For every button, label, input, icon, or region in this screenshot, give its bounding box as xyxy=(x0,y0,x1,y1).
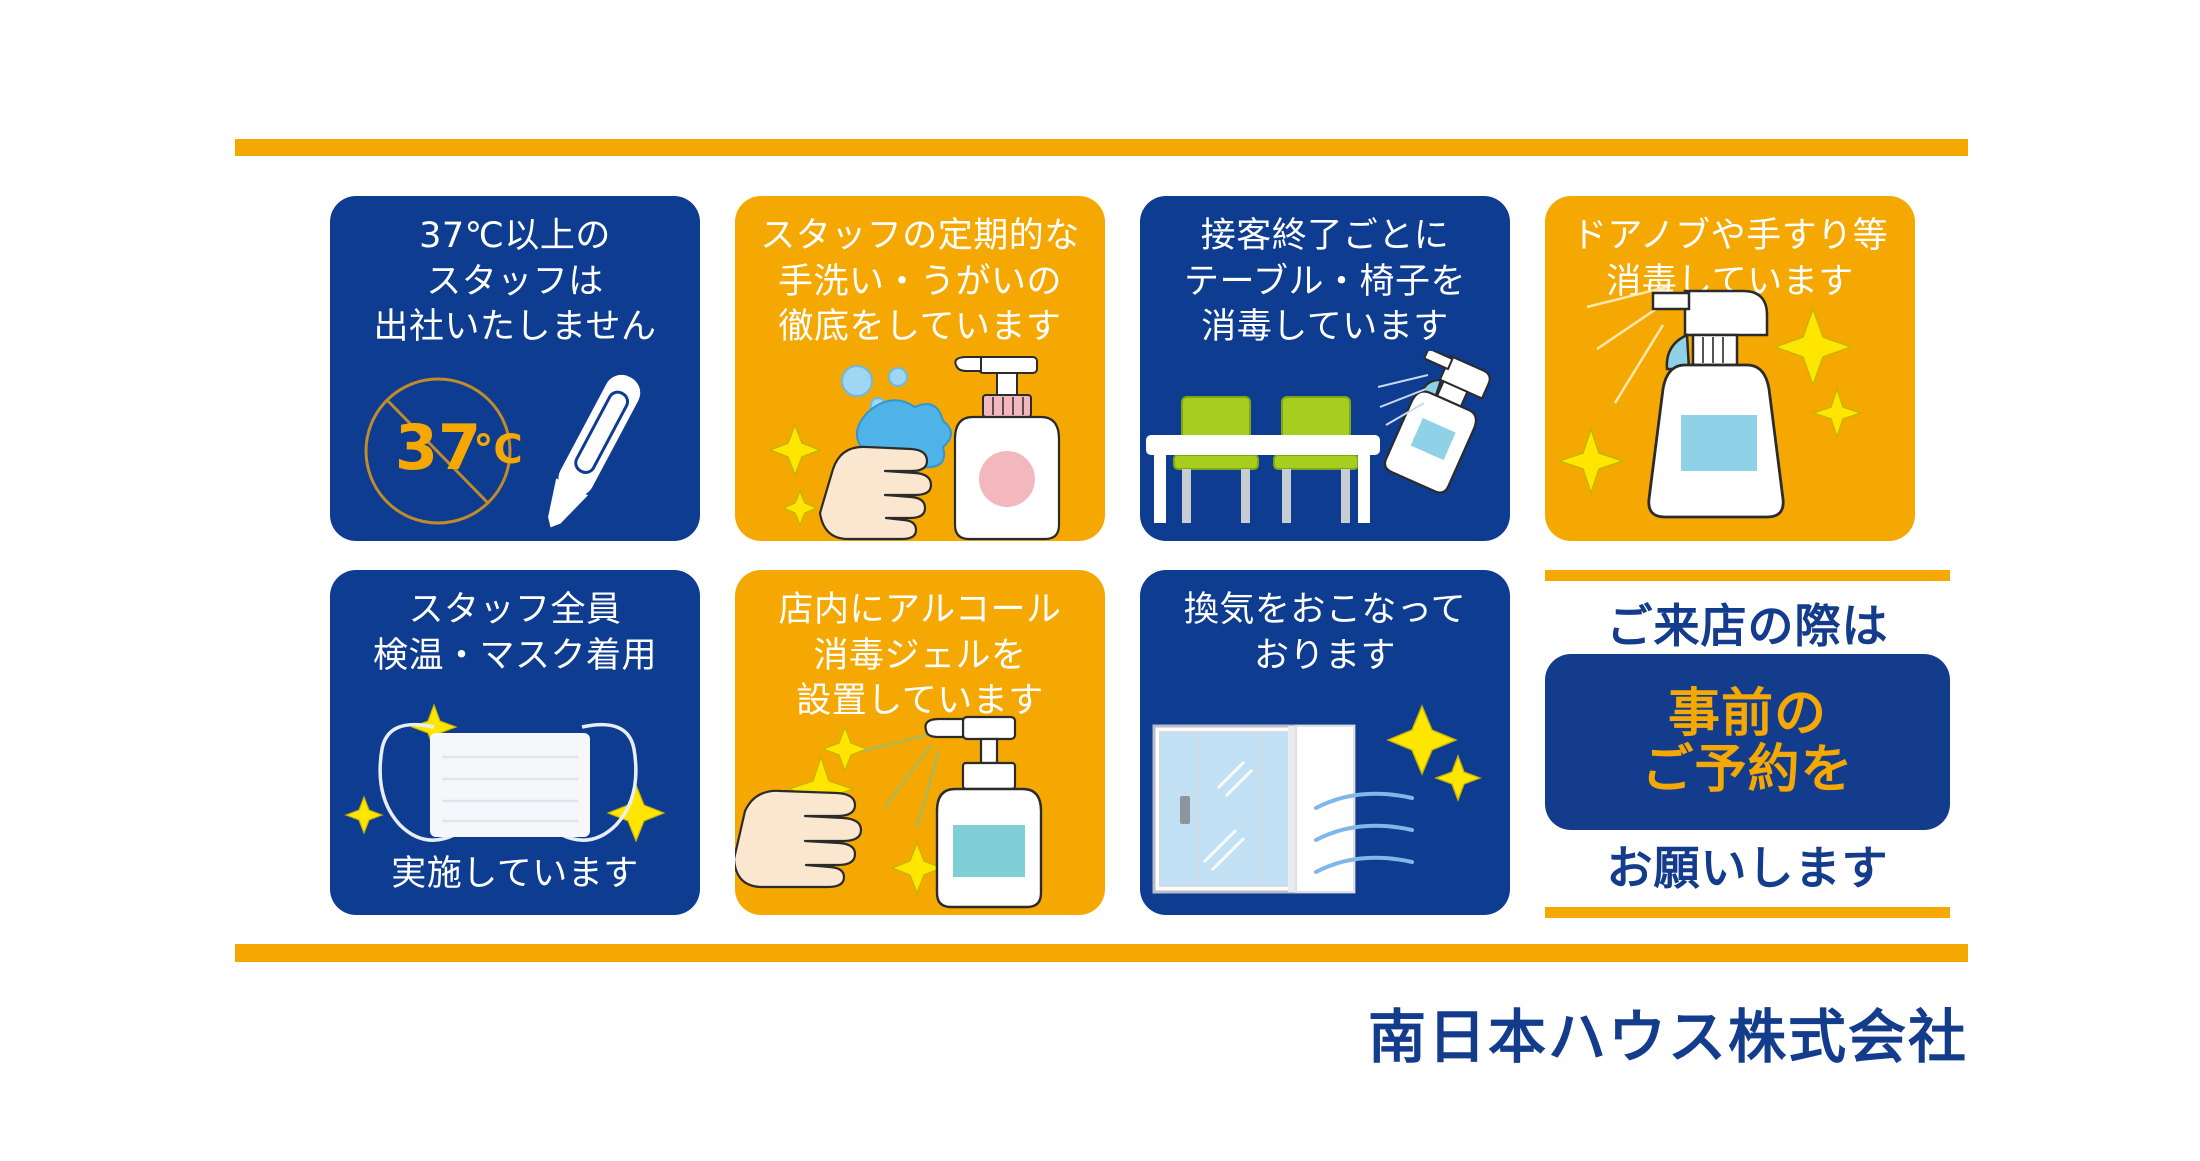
spray-lines-icon xyxy=(863,733,939,827)
card-doorknob-handrail-art xyxy=(1545,281,1915,541)
company-name: 南日本ハウス株式会社 xyxy=(0,990,1968,1074)
reservation-divider-bottom xyxy=(1545,907,1950,918)
card-temperature-mask-art xyxy=(330,703,700,863)
card-alcohol-gel-text: 店内にアルコール 消毒ジェルを 設置しています xyxy=(735,588,1105,725)
reservation-highlight-line-2: ご予約を xyxy=(1641,742,1853,798)
card-fever-staff: 37℃以上の スタッフは 出社いたしません 37 °C xyxy=(330,196,700,541)
sparkle-icon xyxy=(1388,706,1480,800)
svg-text:37: 37 xyxy=(395,411,481,484)
face-mask-icon xyxy=(380,725,636,841)
sparkle-icon xyxy=(770,425,820,525)
card-temperature-mask-text-top: スタッフ全員 検温・マスク着用 xyxy=(330,588,700,679)
reservation-highlight-box: 事前の ご予約を xyxy=(1545,654,1950,830)
svg-text:°C: °C xyxy=(473,427,522,473)
hand-washing-icon xyxy=(820,447,931,539)
soap-dispenser-icon xyxy=(955,357,1059,539)
thermometer-icon xyxy=(535,369,647,536)
card-fever-staff-text: 37℃以上の スタッフは 出社いたしません xyxy=(330,214,700,351)
card-temperature-mask: スタッフ全員 検温・マスク着用 xyxy=(330,570,700,915)
pump-bottle-icon xyxy=(926,717,1042,907)
card-alcohol-gel-art xyxy=(735,715,1105,915)
card-ventilation: 換気をおこなって おります xyxy=(1140,570,1510,915)
reservation-line-1: ご来店の際は xyxy=(1545,590,1950,656)
card-handwash-gargle: スタッフの定期的な 手洗い・うがいの 徹底をしています xyxy=(735,196,1105,541)
hand-icon xyxy=(735,791,861,887)
card-table-chair-sanitize: 接客終了ごとに テーブル・椅子を 消毒しています xyxy=(1140,196,1510,541)
spray-bottle-icon xyxy=(1377,351,1497,495)
reservation-panel: ご来店の際は 事前の ご予約を お願いします xyxy=(1545,570,1950,918)
table-chairs-icon xyxy=(1146,397,1380,523)
poster-root: 37℃以上の スタッフは 出社いたしません 37 °C xyxy=(0,0,2200,1161)
reservation-highlight-line-1: 事前の xyxy=(1668,686,1827,742)
card-alcohol-gel: 店内にアルコール 消毒ジェルを 設置しています xyxy=(735,570,1105,915)
card-table-chair-sanitize-text: 接客終了ごとに テーブル・椅子を 消毒しています xyxy=(1140,214,1510,351)
reservation-line-3: お願いします xyxy=(1545,832,1950,898)
no-37c-icon: 37 °C xyxy=(366,379,523,523)
card-fever-staff-art: 37 °C xyxy=(330,351,700,541)
card-handwash-gargle-text: スタッフの定期的な 手洗い・うがいの 徹底をしています xyxy=(735,214,1105,351)
trigger-spray-icon xyxy=(1649,291,1783,517)
divider-top xyxy=(235,139,1968,156)
card-ventilation-art xyxy=(1140,700,1510,915)
card-handwash-gargle-art xyxy=(735,351,1105,541)
card-doorknob-handrail: ドアノブや手すり等 消毒しています xyxy=(1545,196,1915,541)
card-ventilation-text: 換気をおこなって おります xyxy=(1140,588,1510,679)
reservation-divider-top xyxy=(1545,570,1950,581)
card-table-chair-sanitize-art xyxy=(1140,351,1510,541)
divider-bottom xyxy=(235,944,1968,962)
card-temperature-mask-text-bottom: 実施しています xyxy=(330,852,700,898)
